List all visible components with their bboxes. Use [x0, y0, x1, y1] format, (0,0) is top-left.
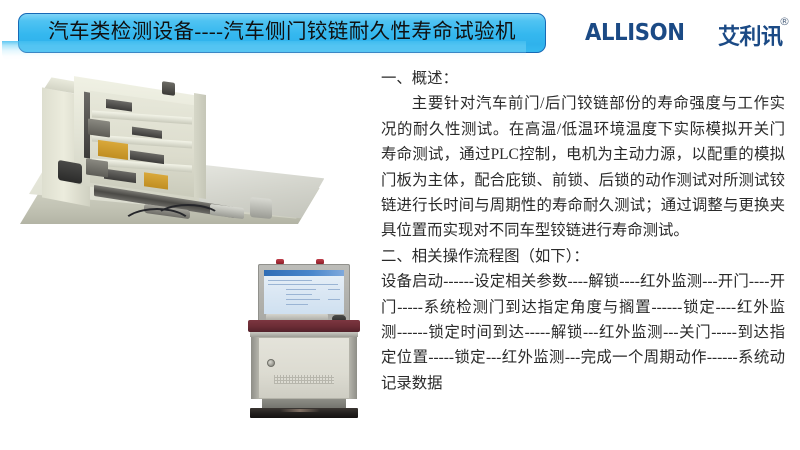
machine-frame-right-post — [194, 93, 206, 199]
machine-cable-2 — [154, 204, 222, 234]
section-1-body: 主要针对汽车前门/后门铰链部份的寿命强度与工作实况的耐久性测试。在高温/低温环境… — [381, 91, 785, 243]
section-2-heading: 二、相关操作流程图（如下）： — [381, 244, 785, 269]
console-screen-line — [286, 304, 308, 305]
machine-amber-panel-mid — [98, 140, 128, 160]
title-reflection — [2, 41, 526, 61]
console-base-highlight — [280, 409, 320, 412]
console-screen-line — [286, 289, 316, 290]
console-keyboard-tray — [248, 320, 360, 332]
machine-hinge-fixture-4 — [104, 169, 136, 183]
machine-amber-panel-bottom — [144, 172, 168, 189]
console-cabinet-door — [258, 337, 350, 399]
console-photo — [240, 258, 366, 420]
machine-top-knob — [162, 81, 175, 96]
logo-latin-text: ALLISON — [585, 20, 685, 46]
brand-logo: ALLISON 艾利讯 ® — [585, 16, 790, 52]
console-vent-grille — [274, 375, 334, 384]
registered-trademark-icon: ® — [779, 15, 790, 28]
machine-photo — [12, 76, 352, 254]
logo-chinese-text: 艾利讯 — [718, 19, 783, 51]
machine-plug-assembly — [250, 197, 272, 219]
console-cabinet-right-side — [349, 337, 357, 399]
section-2-body: 设备启动------设定相关参数----解锁----红外监测---开门----开… — [381, 269, 785, 396]
console-screen-line — [268, 280, 312, 281]
console-screen-line — [286, 299, 320, 300]
machine-clamp-left-upper — [88, 118, 110, 137]
console-screen-titlebar — [264, 270, 344, 276]
console-screen-value — [328, 299, 340, 300]
machine-motor — [58, 160, 82, 184]
console-screen-line — [268, 284, 338, 285]
content-column: 一、概述： 主要针对汽车前门/后门铰链部份的寿命强度与工作实况的耐久性测试。在高… — [381, 66, 785, 396]
machine-hinge-fixture-1 — [106, 99, 132, 112]
machine-clamp-left-lower — [86, 158, 108, 177]
console-screen-value — [328, 289, 340, 290]
console-screen — [264, 270, 344, 314]
slide-canvas: 汽车类检测设备----汽车侧门铰链耐久性寿命试验机 ALLISON 艾利讯 ® — [0, 0, 800, 450]
machine-fixture-stack — [90, 91, 194, 198]
console-lock-icon[interactable] — [267, 359, 275, 367]
section-1-heading: 一、概述： — [381, 66, 785, 91]
console-screen-line — [286, 294, 312, 295]
